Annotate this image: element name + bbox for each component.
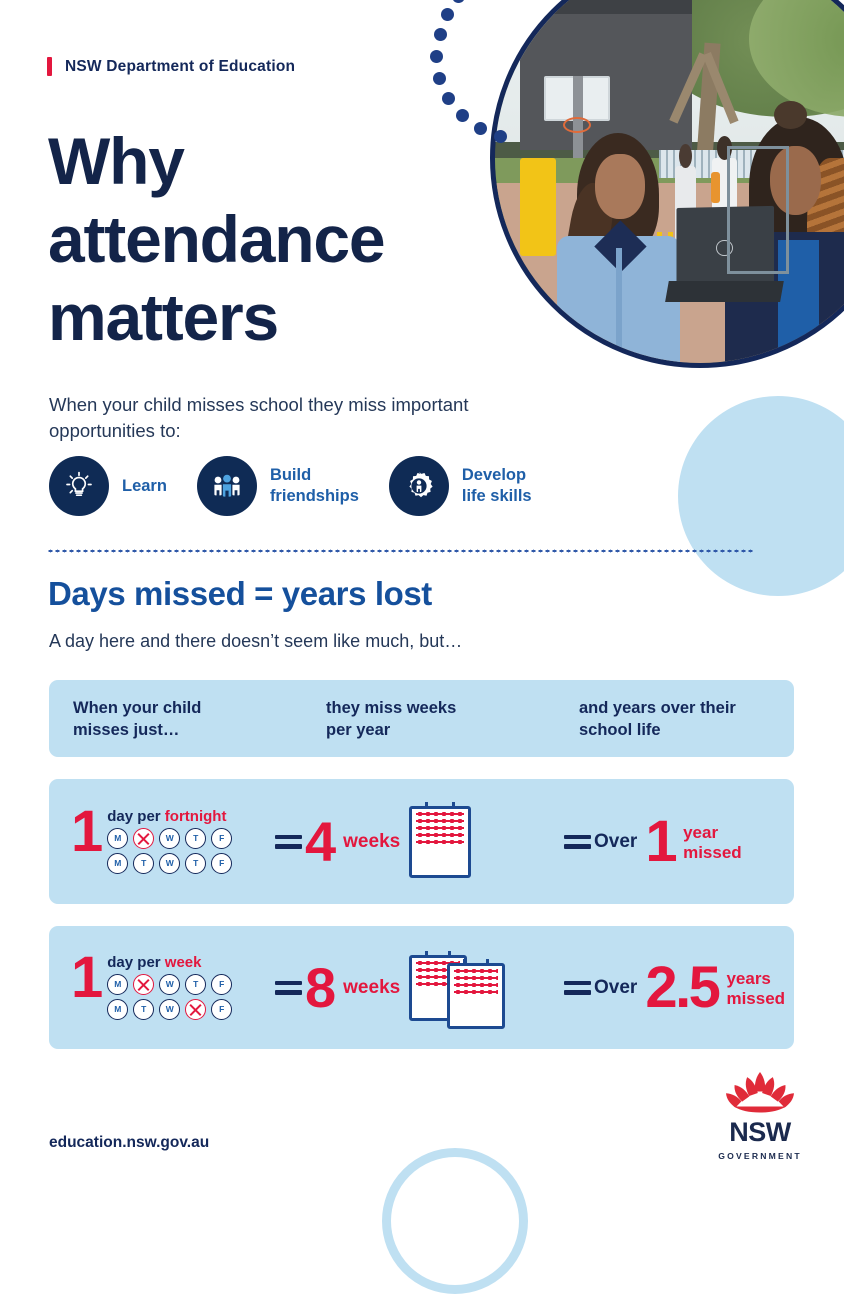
frequency-label: day per fortnight (107, 808, 232, 825)
week-two-days: M T W T F (107, 999, 232, 1020)
section-subtitle: A day here and there doesn’t seem like m… (49, 631, 462, 652)
brand-name: NSW Department of Education (65, 58, 295, 76)
over-label: Over (594, 977, 637, 999)
feature-list: Learn Build friendships (49, 456, 532, 516)
dotted-arc-decoration (430, 0, 570, 140)
weeks-word: weeks (343, 977, 400, 999)
day-circle: F (211, 828, 232, 849)
equals-icon (271, 835, 305, 849)
day-circle: M (107, 974, 128, 995)
frequency-amount: 1 (71, 952, 101, 1004)
nsw-logo-subtext: GOVERNMENT (718, 1151, 802, 1161)
calendar-icon (409, 947, 505, 1029)
years-text: years missed (726, 967, 785, 1009)
day-circle: T (185, 828, 206, 849)
weeks-word: weeks (343, 831, 400, 853)
column-header-1: When your child misses just… (73, 697, 326, 741)
day-circle: F (211, 974, 232, 995)
feature-item-friendships: Build friendships (197, 456, 359, 516)
day-circle: M (107, 853, 128, 874)
feature-item-learn: Learn (49, 456, 167, 516)
weeks-number: 4 (305, 814, 334, 870)
day-circle: F (211, 999, 232, 1020)
frequency-amount: 1 (71, 806, 101, 858)
week-one-days: M T W T F (107, 828, 232, 849)
brand-tick-icon (47, 57, 52, 76)
day-circle: M (107, 828, 128, 849)
equals-icon (560, 981, 594, 995)
day-circle: F (211, 853, 232, 874)
day-circle: W (159, 974, 180, 995)
table-row: 1 day per fortnight M T W T F M T W T F (49, 779, 794, 904)
day-circle-missed: T (185, 999, 206, 1020)
section-title: Days missed = years lost (48, 575, 432, 613)
nsw-government-logo: NSW GOVERNMENT (718, 1070, 802, 1164)
day-circle: T (133, 999, 154, 1020)
feature-item-life-skills: Develop life skills (389, 456, 532, 516)
frequency-label: day per week (107, 954, 232, 971)
lightbulb-icon (49, 456, 109, 516)
section-divider (47, 549, 755, 553)
row-weeks-cell: 8 weeks (305, 947, 560, 1029)
people-group-icon (197, 456, 257, 516)
footer-url[interactable]: education.nsw.gov.au (49, 1134, 209, 1152)
column-header-3: and years over their school life (579, 697, 794, 741)
feature-label: Learn (122, 476, 167, 497)
day-circle: W (159, 853, 180, 874)
row-years-cell: Over 1 year missed (594, 816, 794, 868)
nsw-logo-text: NSW (729, 1117, 791, 1147)
week-one-days: M T W T F (107, 974, 232, 995)
day-circle: T (185, 974, 206, 995)
day-circle: W (159, 828, 180, 849)
years-text: year missed (683, 821, 742, 863)
row-years-cell: Over 2.5 years missed (594, 962, 794, 1014)
table-header-panel: When your child misses just… they miss w… (49, 680, 794, 757)
years-number: 2.5 (645, 962, 718, 1014)
calendar-icon (409, 806, 471, 878)
day-circle: T (185, 853, 206, 874)
waratah-icon (718, 1070, 802, 1119)
day-circle: M (107, 999, 128, 1020)
decorative-circle-right (678, 396, 844, 596)
column-header-2: they miss weeks per year (326, 697, 579, 741)
equals-icon (560, 835, 594, 849)
hero-lede: When your child misses school they miss … (49, 392, 479, 444)
years-number: 1 (645, 816, 675, 868)
day-circle-missed: T (133, 974, 154, 995)
equals-icon (271, 981, 305, 995)
row-frequency-cell: 1 day per fortnight M T W T F M T W T F (71, 806, 271, 878)
day-circle-missed: T (133, 828, 154, 849)
face-detection-box (727, 146, 789, 274)
over-label: Over (594, 831, 637, 853)
page-title: Why attendance matters (48, 122, 478, 356)
weeks-number: 8 (305, 960, 334, 1016)
week-two-days: M T W T F (107, 853, 232, 874)
decorative-circle-outline-bottom (382, 1148, 528, 1294)
feature-label: Build friendships (270, 465, 359, 507)
row-frequency-cell: 1 day per week M T W T F M T W T F (71, 952, 271, 1024)
feature-label: Develop life skills (462, 465, 532, 507)
day-circle: W (159, 999, 180, 1020)
gear-person-icon (389, 456, 449, 516)
table-row: 1 day per week M T W T F M T W T F (49, 926, 794, 1049)
day-circle: T (133, 853, 154, 874)
row-weeks-cell: 4 weeks (305, 806, 560, 878)
brand-bar: NSW Department of Education (47, 57, 295, 76)
